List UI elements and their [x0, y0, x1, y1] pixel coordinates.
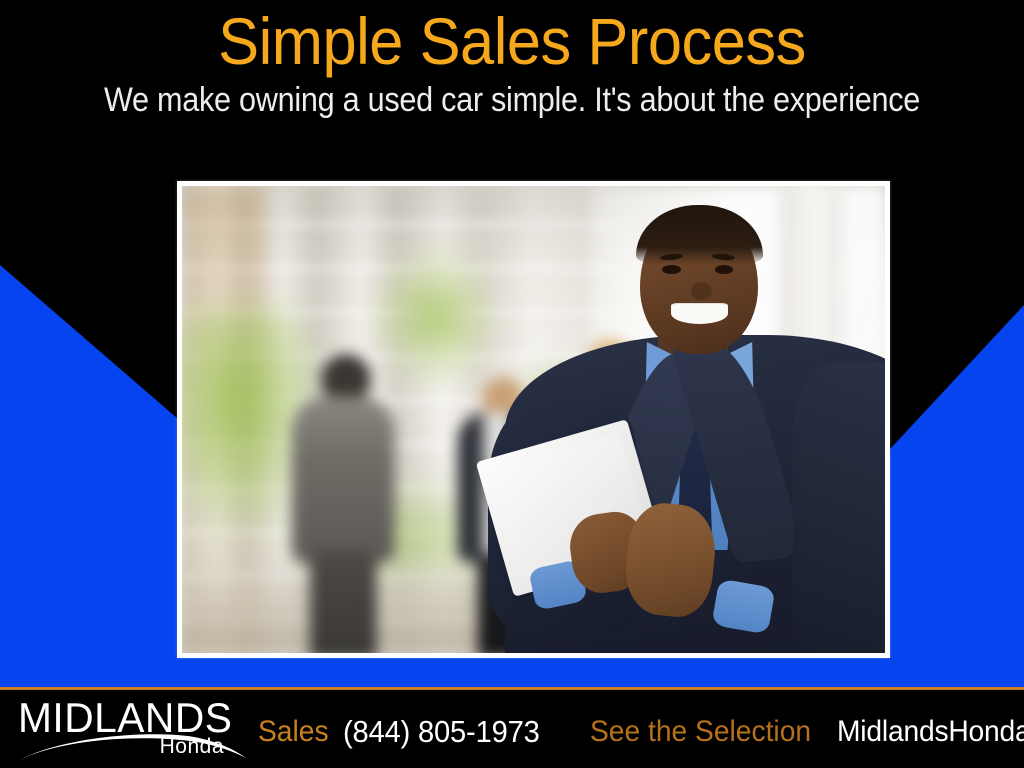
hero-photo — [182, 186, 885, 653]
background-person-man-gray-suit — [287, 354, 399, 653]
torso — [292, 396, 395, 563]
header: Simple Sales Process We make owning a us… — [0, 0, 1024, 140]
hair — [636, 205, 762, 266]
eye-left — [662, 265, 680, 274]
footer-contact-group: Sales (844) 805-1973 See the Selection M… — [258, 710, 1018, 754]
arm-right — [793, 363, 885, 653]
sales-label: Sales — [258, 715, 329, 749]
midlands-honda-logo[interactable]: MIDLANDS Honda — [18, 696, 248, 762]
see-the-selection-label: See the Selection — [590, 715, 811, 749]
slide-canvas: Simple Sales Process We make owning a us… — [0, 0, 1024, 768]
logo-swoosh-icon — [18, 734, 248, 762]
page-title: Simple Sales Process — [36, 4, 988, 78]
legs — [310, 551, 377, 653]
page-subtitle: We make owning a used car simple. It's a… — [51, 80, 973, 120]
smile — [671, 303, 728, 324]
foreground-businessman — [505, 186, 885, 653]
shirt-cuff-right — [711, 578, 775, 634]
footer-bar: MIDLANDS Honda Sales (844) 805-1973 See … — [0, 690, 1024, 768]
sales-phone-number[interactable]: (844) 805-1973 — [343, 715, 540, 749]
website-url[interactable]: MidlandsHonda.com — [837, 715, 1024, 749]
photo-frame — [177, 181, 890, 658]
blue-wedge-left — [0, 258, 200, 688]
